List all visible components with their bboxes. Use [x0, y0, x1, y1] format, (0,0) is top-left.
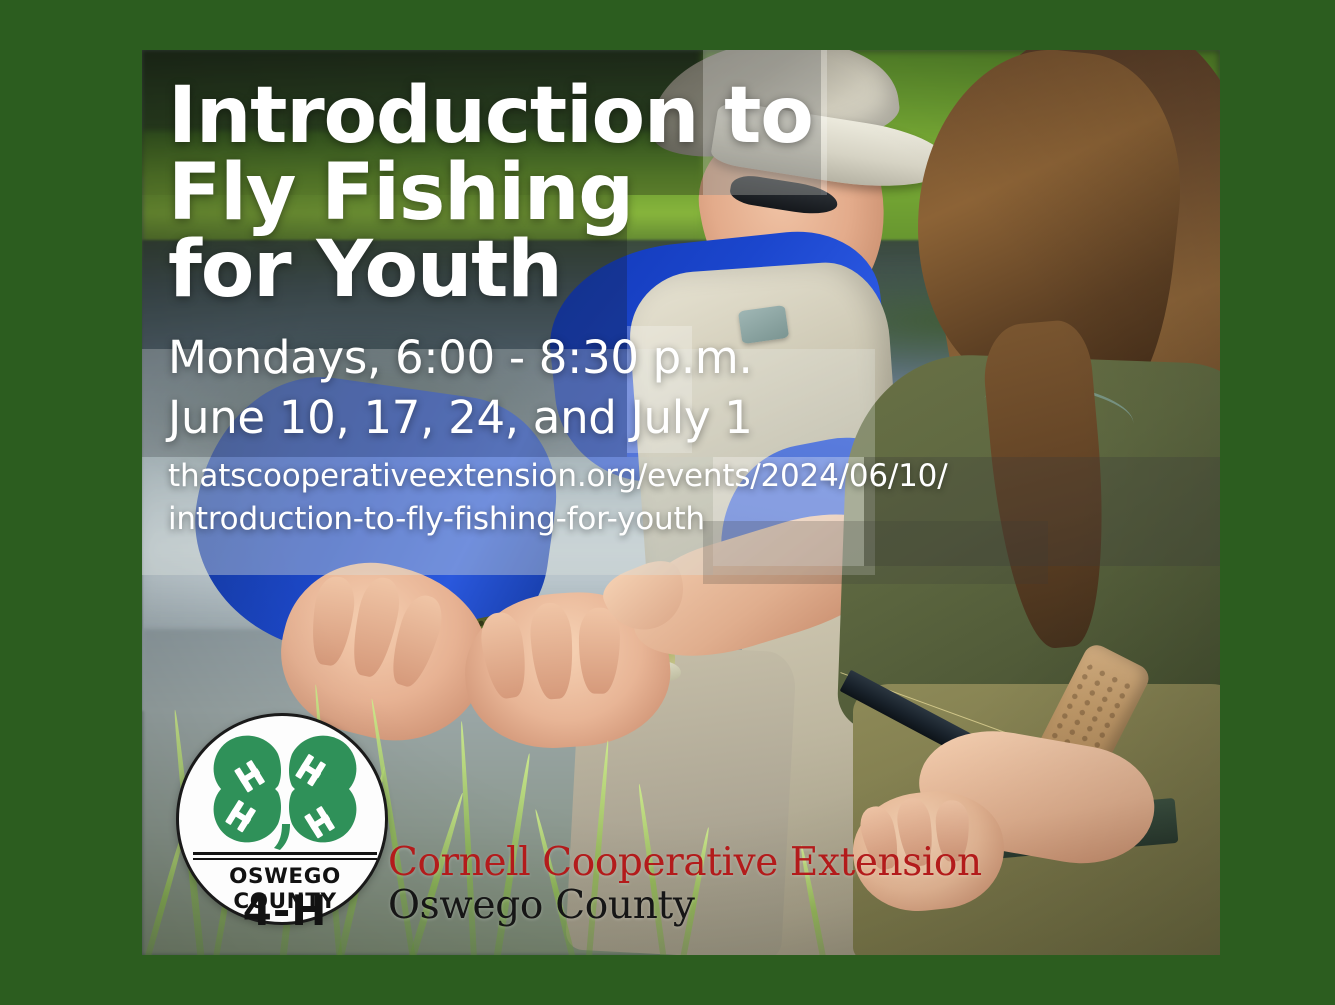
flyer-schedule: Mondays, 6:00 - 8:30 p.m. June 10, 17, 2…	[168, 328, 1068, 450]
finger	[478, 610, 532, 701]
cornell-cooperative-extension-logo: Cornell Cooperative Extension Oswego Cou…	[388, 843, 982, 928]
finger	[528, 602, 576, 700]
url-line-1[interactable]: thatscooperativeextension.org/events/202…	[168, 455, 1068, 498]
headline-line-1: Introduction to	[168, 78, 1068, 155]
logo-program-label: 4-H	[179, 886, 391, 935]
logo-divider-rule-thin	[193, 858, 377, 860]
flyer-url[interactable]: thatscooperativeextension.org/events/202…	[168, 455, 1068, 541]
schedule-line-time: Mondays, 6:00 - 8:30 p.m.	[168, 328, 1068, 389]
cce-secondary-line: Oswego County	[388, 884, 982, 928]
finger	[307, 574, 358, 668]
oswego-county-4h-logo: OSWEGO COUNTY 4-H	[176, 713, 388, 925]
schedule-line-dates: June 10, 17, 24, and July 1	[168, 388, 1068, 449]
url-line-2[interactable]: introduction-to-fly-fishing-for-youth	[168, 498, 1068, 541]
four-leaf-clover-icon	[204, 728, 366, 850]
flyer-text-block: Introduction to Fly Fishing for Youth Mo…	[168, 78, 1068, 541]
cce-primary-line: Cornell Cooperative Extension	[388, 843, 982, 882]
headline-line-2: Fly Fishing	[168, 155, 1068, 232]
logo-divider-rule	[193, 852, 377, 855]
finger	[578, 607, 620, 694]
flyer-photo-card: Introduction to Fly Fishing for Youth Mo…	[142, 50, 1220, 955]
flyer-headline: Introduction to Fly Fishing for Youth	[168, 78, 1068, 310]
headline-line-3: for Youth	[168, 232, 1068, 309]
